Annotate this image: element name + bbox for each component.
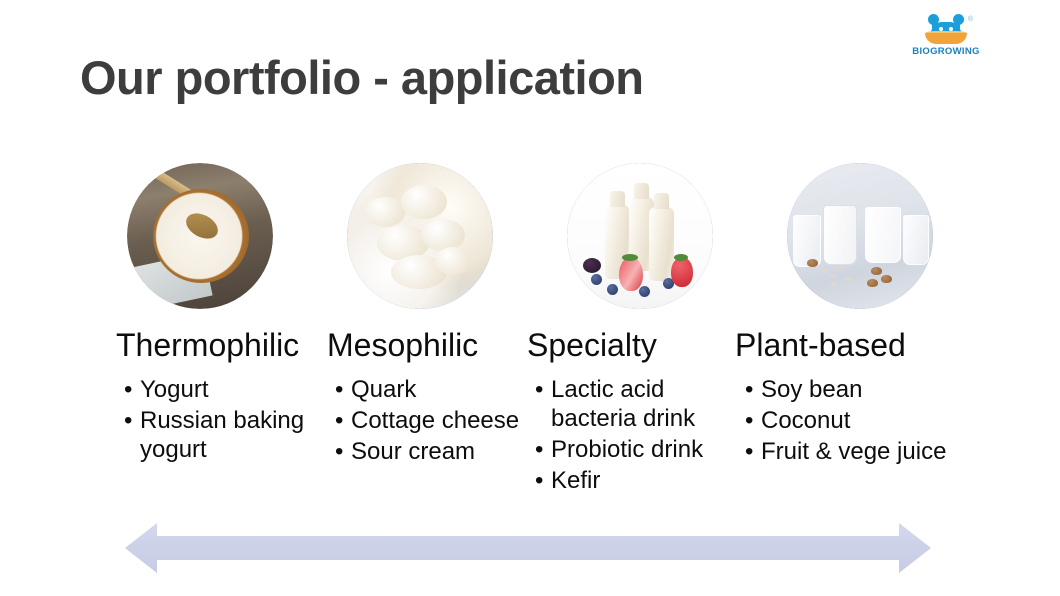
portfolio-column-plant-based: Plant-based Soy bean Coconut Fruit & veg… (750, 163, 970, 498)
plant-milk-scene (787, 163, 933, 309)
almond (871, 267, 882, 275)
yogurt-bowl-scene (127, 163, 273, 309)
portfolio-column-mesophilic: Mesophilic Quark Cottage cheese Sour cre… (310, 163, 530, 498)
quark-curds-scene (347, 163, 493, 309)
thumbnail-wrap (90, 163, 310, 318)
strawberry-half (619, 257, 643, 291)
thumbnail-wrap (530, 163, 750, 318)
almond (807, 259, 818, 267)
strawberry-leaf (622, 254, 638, 261)
oat-flake (845, 277, 851, 280)
logo-wordmark: BIOGROWING (908, 46, 984, 57)
plant-milk-photo (787, 163, 933, 309)
list-item: Sour cream (335, 437, 530, 466)
column-heading-thermophilic: Thermophilic (116, 328, 310, 363)
oat-flake (829, 275, 835, 278)
column-heading-specialty: Specialty (527, 328, 750, 363)
list-item: Yogurt (124, 375, 310, 404)
yogurt-bowl-photo (127, 163, 273, 309)
strawberry-leaf (674, 254, 688, 261)
slide-canvas: ® BIOGROWING Our portfolio - application… (0, 0, 1060, 596)
blueberry (639, 286, 650, 297)
list-item: Probiotic drink (535, 435, 750, 464)
list-item: Fruit & vege juice (745, 437, 970, 466)
biogrowing-mascot-icon: ® (923, 14, 969, 44)
list-item: Russian baking yogurt (124, 406, 310, 465)
mascot-base (925, 33, 967, 44)
oat-flake (837, 267, 843, 270)
column-heading-mesophilic: Mesophilic (327, 328, 530, 363)
oat-flake (821, 269, 827, 272)
thumbnail-wrap (310, 163, 530, 318)
list-item: Quark (335, 375, 530, 404)
portfolio-column-specialty: Specialty Lactic acid bacteria drink Pro… (530, 163, 750, 498)
column-heading-plant-based: Plant-based (735, 328, 970, 363)
curd-clump (421, 219, 465, 251)
almond (867, 279, 878, 287)
blueberry (607, 284, 618, 295)
bottle-neck (610, 191, 625, 207)
list-item: Kefir (535, 466, 750, 495)
portfolio-columns: Thermophilic Yogurt Russian baking yogur… (90, 163, 970, 498)
milk-glass (793, 215, 821, 267)
registered-trademark-symbol: ® (968, 16, 973, 23)
curd-clump (435, 247, 471, 275)
bullet-list-thermophilic: Yogurt Russian baking yogurt (124, 375, 310, 465)
portfolio-column-thermophilic: Thermophilic Yogurt Russian baking yogur… (90, 163, 310, 498)
blueberry (591, 274, 602, 285)
bottle-neck (654, 193, 669, 209)
blackberry (583, 258, 601, 273)
double-headed-arrow (125, 515, 931, 581)
milk-glass (865, 207, 901, 263)
page-title: Our portfolio - application (80, 50, 644, 105)
thumbnail-wrap (750, 163, 970, 318)
bullet-list-plant-based: Soy bean Coconut Fruit & vege juice (745, 375, 970, 467)
list-item: Soy bean (745, 375, 970, 404)
quark-curds-photo (347, 163, 493, 309)
list-item: Cottage cheese (335, 406, 530, 435)
milk-glass (903, 215, 929, 265)
biogrowing-logo: ® BIOGROWING (908, 14, 984, 62)
yogurt-drink-scene (567, 163, 713, 309)
almond (881, 275, 892, 283)
curd-clump (365, 197, 405, 227)
bullet-list-specialty: Lactic acid bacteria drink Probiotic dri… (535, 375, 750, 496)
yogurt-drink-bottles-photo (567, 163, 713, 309)
curd-clump (401, 185, 447, 219)
oat-flake (831, 283, 837, 286)
milk-jar (823, 205, 857, 265)
bottle-neck (634, 183, 649, 199)
list-item: Lactic acid bacteria drink (535, 375, 750, 434)
bullet-list-mesophilic: Quark Cottage cheese Sour cream (335, 375, 530, 467)
strawberry-whole (671, 257, 693, 287)
list-item: Coconut (745, 406, 970, 435)
